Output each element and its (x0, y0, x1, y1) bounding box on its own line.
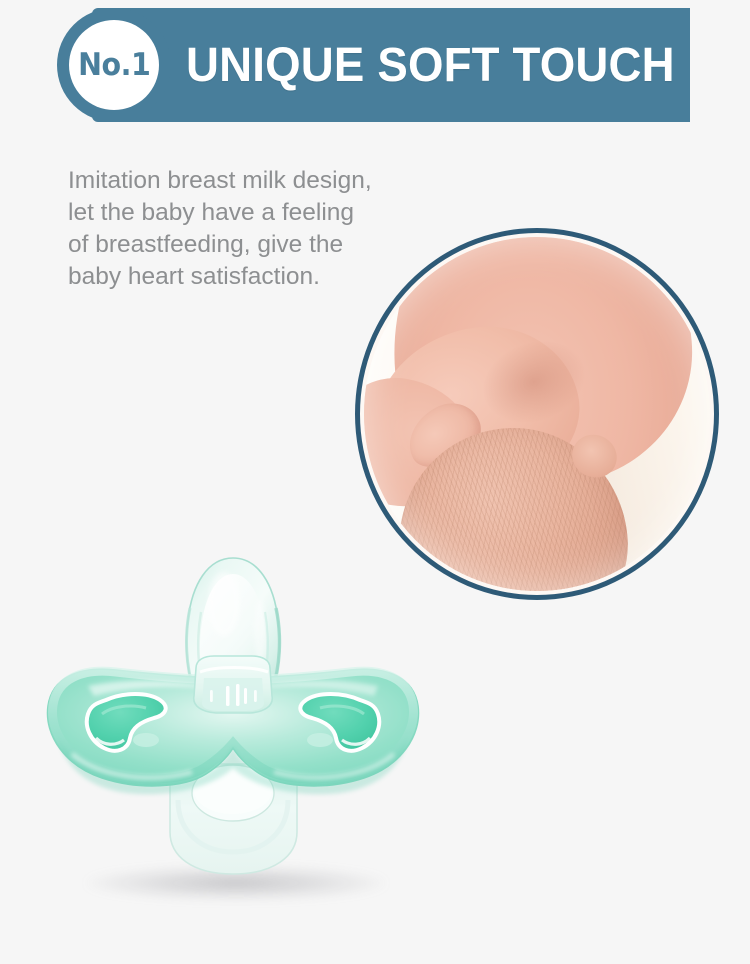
rank-badge: No.1 (57, 8, 171, 122)
pacifier-product-image (28, 500, 438, 910)
description-line-2: let the baby have a feeling (68, 197, 428, 229)
product-feature-page: No.1 UNIQUE SOFT TOUCH Imitation breast … (0, 0, 750, 964)
description-line-1: Imitation breast milk design, (68, 165, 428, 197)
rank-badge-label: No.1 (78, 50, 150, 81)
page-title: UNIQUE SOFT TOUCH (186, 8, 675, 122)
rank-badge-inner: No.1 (69, 20, 159, 110)
pacifier-base-plate (194, 656, 273, 713)
pacifier-svg (28, 500, 438, 910)
